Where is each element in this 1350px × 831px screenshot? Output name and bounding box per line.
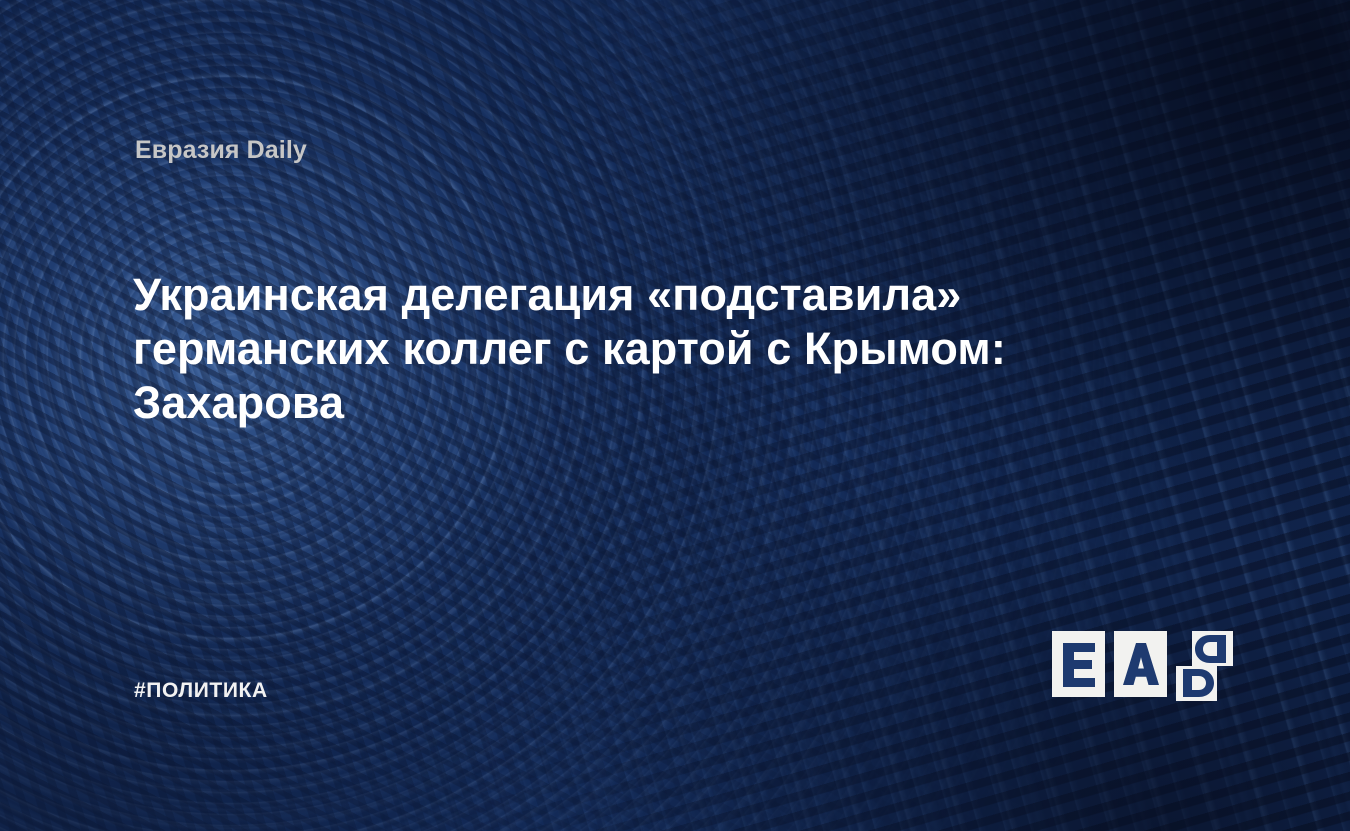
letter-a-icon <box>1122 641 1160 687</box>
site-name: Евразия Daily <box>135 136 307 165</box>
logo-tile-a <box>1114 631 1167 697</box>
letter-d-split-icon <box>1176 631 1233 701</box>
news-card: Евразия Daily Украинская делегация «подс… <box>0 0 1350 831</box>
headline-line-3: Захарова <box>133 376 1203 430</box>
logo-tile-e <box>1052 631 1105 697</box>
headline-line-1: Украинская делегация «подставила» <box>133 268 1203 322</box>
headline: Украинская делегация «подставила» герман… <box>133 268 1203 430</box>
card-content: Евразия Daily Украинская делегация «подс… <box>0 0 1350 831</box>
logo-tile-d-split <box>1176 631 1233 701</box>
headline-line-2: германских коллег с картой с Крымом: <box>133 322 1203 376</box>
eadaily-logo[interactable] <box>1052 631 1233 701</box>
category-hashtag[interactable]: #ПОЛИТИКА <box>134 679 268 703</box>
letter-e-icon <box>1061 641 1097 687</box>
